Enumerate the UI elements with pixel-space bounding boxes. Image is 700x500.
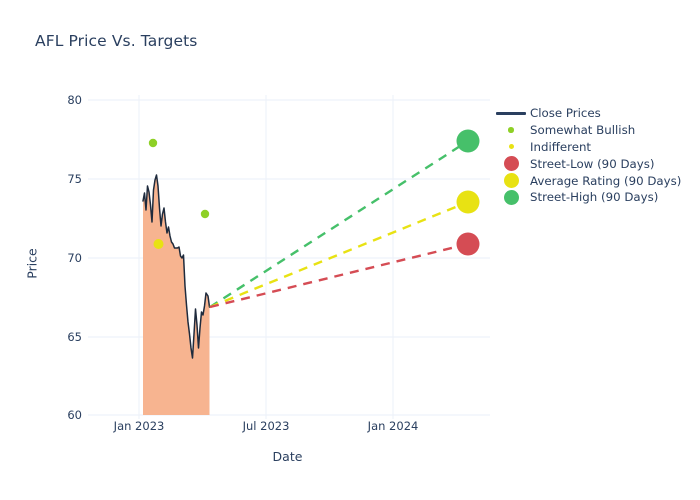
close-prices-line-icon (492, 112, 530, 115)
street-high-marker[interactable] (457, 130, 480, 153)
rating-point-indifferent[interactable] (154, 239, 164, 249)
target-markers (457, 130, 480, 256)
indifferent-dot-icon (492, 144, 530, 149)
street-low-dashed-line (210, 244, 468, 307)
legend-item-close-prices[interactable]: Close Prices (492, 105, 692, 122)
rating-point-somewhat-bullish[interactable] (149, 139, 157, 147)
street-high-dashed-line (210, 141, 468, 307)
y-axis-title: Price (25, 224, 40, 304)
target-projection-lines (210, 141, 468, 307)
legend-item-somewhat-bullish[interactable]: Somewhat Bullish (492, 122, 692, 139)
legend-item-street-low[interactable]: Street-Low (90 Days) (492, 155, 692, 172)
x-axis-title: Date (0, 449, 700, 464)
street-low-marker[interactable] (457, 233, 480, 256)
xtick-jan-2024: Jan 2024 (368, 419, 419, 433)
plot-canvas (0, 0, 700, 500)
somewhat-bullish-dot-icon (492, 127, 530, 133)
legend-item-street-high[interactable]: Street-High (90 Days) (492, 189, 692, 206)
average-rating-dot-icon (492, 173, 530, 188)
chart-figure: AFL Price Vs. Targets (0, 0, 700, 500)
legend: Close Prices Somewhat Bullish Indifferen… (492, 105, 692, 206)
average-rating-marker[interactable] (457, 191, 480, 214)
legend-item-average-rating[interactable]: Average Rating (90 Days) (492, 172, 692, 189)
street-low-dot-icon (492, 156, 530, 171)
street-high-dot-icon (492, 190, 530, 205)
legend-item-indifferent[interactable]: Indifferent (492, 139, 692, 156)
xtick-jul-2023: Jul 2023 (243, 419, 290, 433)
xtick-jan-2023: Jan 2023 (114, 419, 165, 433)
rating-point-somewhat-bullish-2[interactable] (201, 210, 209, 218)
